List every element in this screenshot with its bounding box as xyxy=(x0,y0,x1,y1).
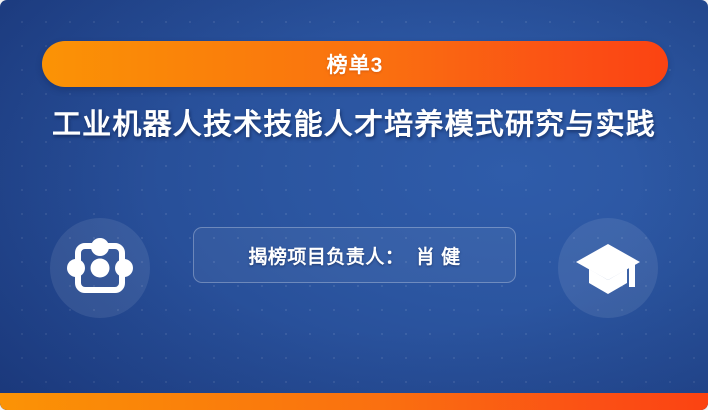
graduation-cap-icon-badge xyxy=(558,218,658,318)
graduation-cap-icon xyxy=(574,238,642,298)
project-leader-box: 揭榜项目负责人： 肖 健 xyxy=(193,227,516,283)
project-leader-text: 揭榜项目负责人： 肖 健 xyxy=(248,242,460,269)
page-title: 工业机器人技术技能人才培养模式研究与实践 xyxy=(0,101,708,143)
robot-icon-badge xyxy=(50,218,150,318)
promo-card: 榜单3 工业机器人技术技能人才培养模式研究与实践 揭榜项目负责人： 肖 健 xyxy=(0,0,708,410)
rank-badge-label: 榜单3 xyxy=(327,49,384,79)
robot-icon xyxy=(67,237,133,299)
bottom-accent-strip xyxy=(0,393,708,410)
rank-badge: 榜单3 xyxy=(42,41,668,87)
